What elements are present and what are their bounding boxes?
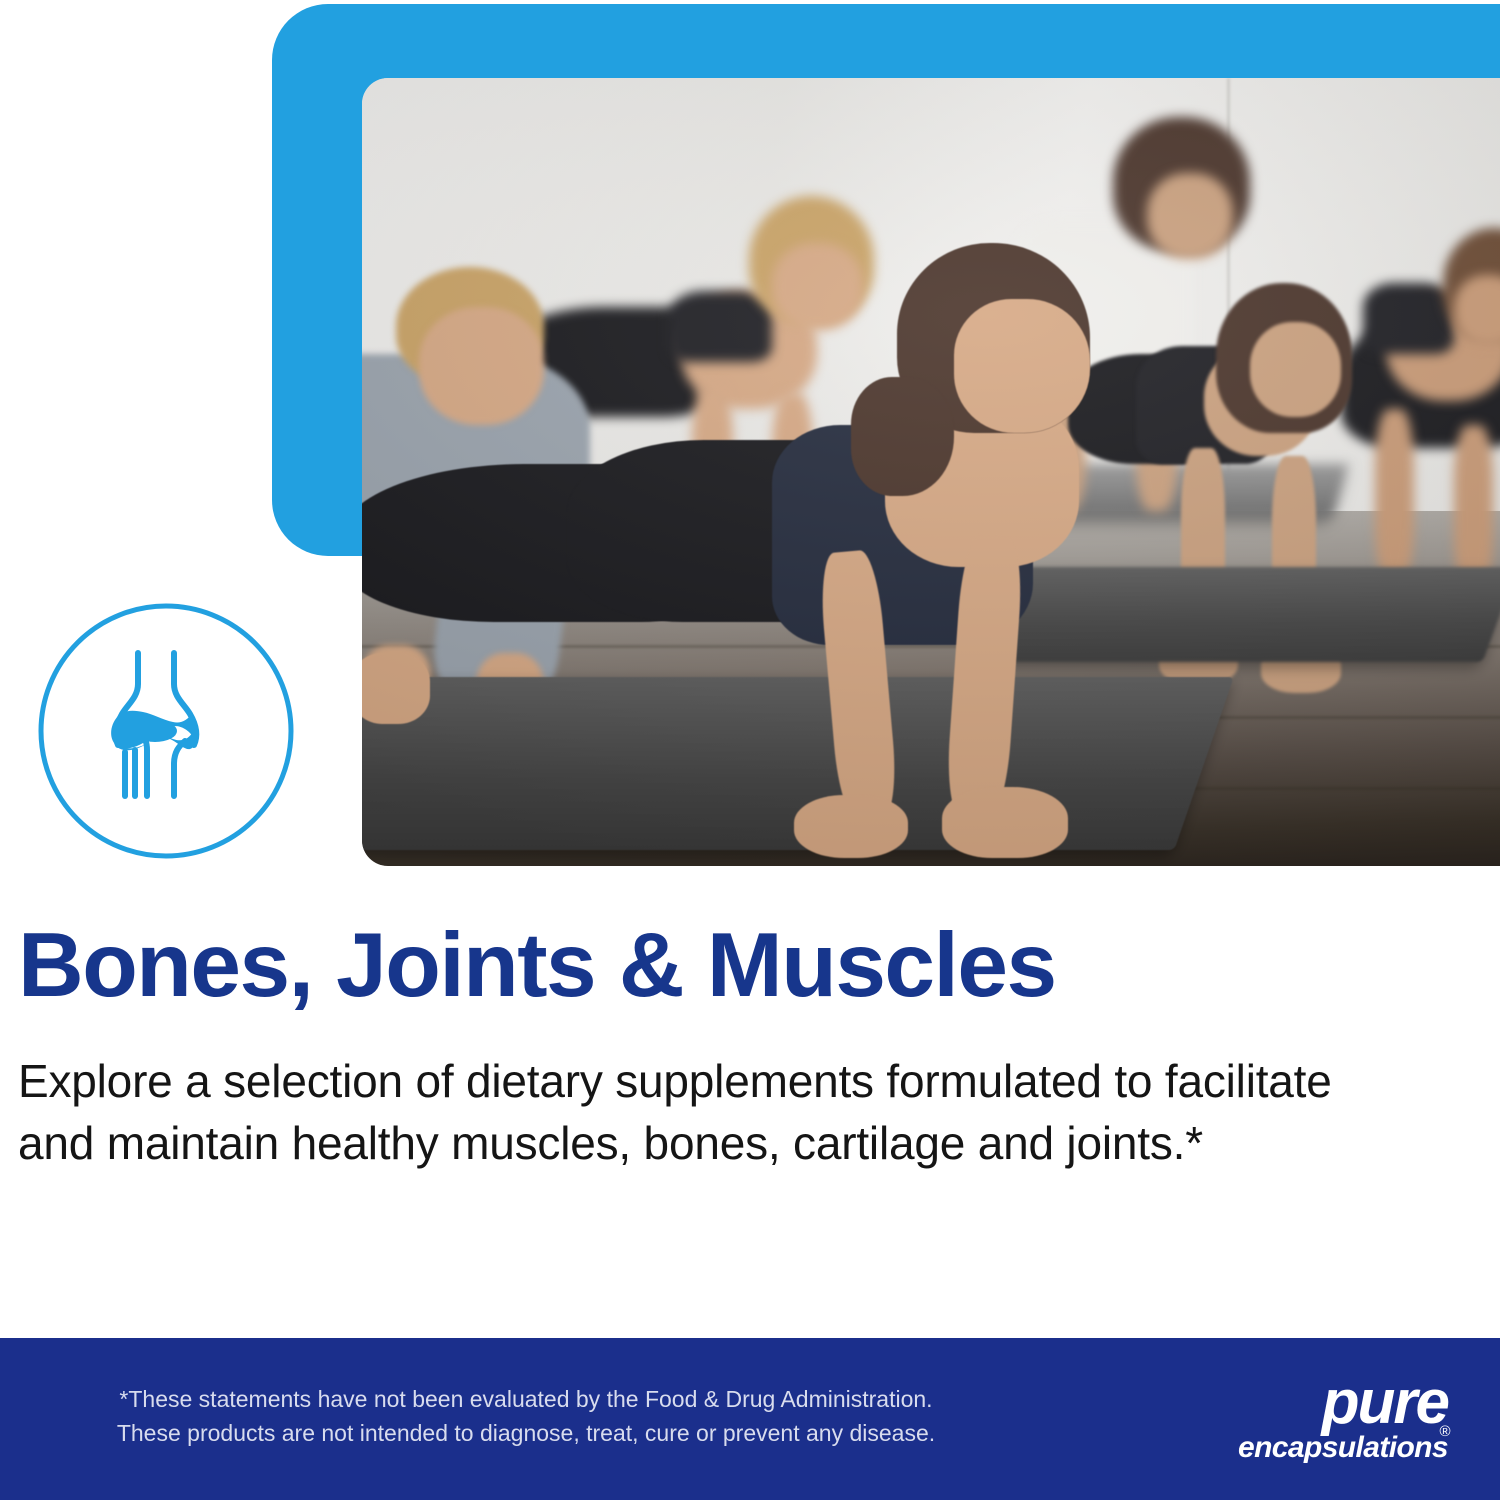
brand-logo-word: pure [1180, 1374, 1448, 1432]
brand-logo-subword: encapsulations ® [1180, 1432, 1448, 1464]
knee-joint-icon [35, 600, 297, 862]
footer-band: *These statements have not been evaluate… [0, 1338, 1500, 1500]
fda-disclaimer: *These statements have not been evaluate… [46, 1382, 1006, 1450]
hero-photo [362, 78, 1500, 866]
registered-trademark-icon: ® [1440, 1416, 1450, 1448]
copy-block: Bones, Joints & Muscles Explore a select… [18, 918, 1438, 1174]
brand-logo: pure encapsulations ® [1180, 1374, 1448, 1466]
page-subtitle: Explore a selection of dietary supplemen… [18, 1050, 1418, 1174]
fda-disclaimer-line-1: *These statements have not been evaluate… [46, 1382, 1006, 1416]
brand-logo-subword-text: encapsulations [1238, 1431, 1448, 1464]
fda-disclaimer-line-2: These products are not intended to diagn… [46, 1416, 1006, 1450]
page-title: Bones, Joints & Muscles [18, 918, 1438, 1014]
photo-vignette [362, 78, 1500, 866]
